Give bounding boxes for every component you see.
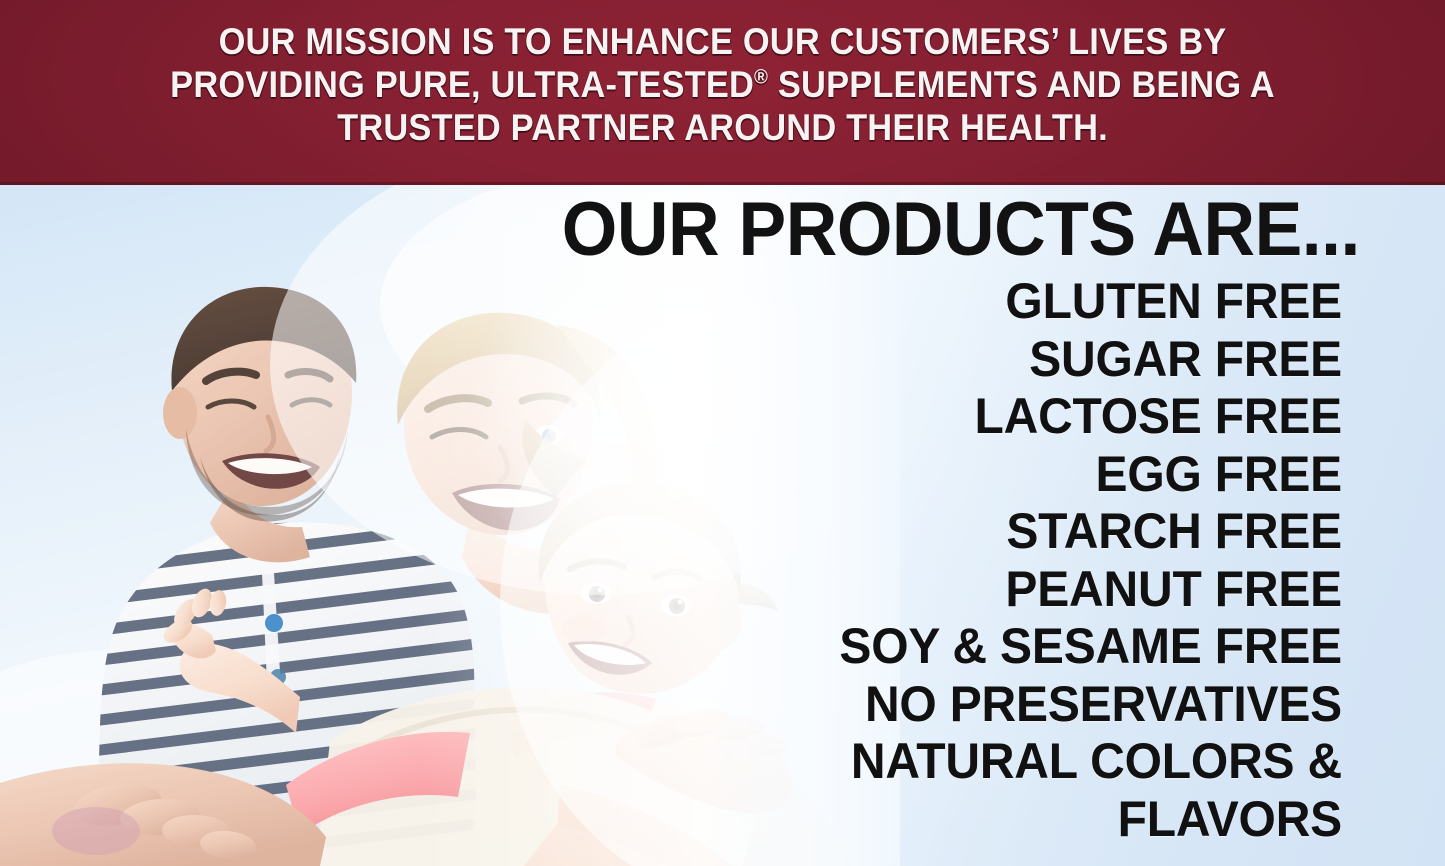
claim-item-starch-free: STARCH FREE	[545, 503, 1342, 561]
claim-item-egg-free: EGG FREE	[545, 446, 1342, 504]
claim-item-gluten-free: GLUTEN FREE	[545, 273, 1342, 331]
claim-item-peanut-free: PEANUT FREE	[545, 561, 1342, 619]
product-claims-block: OUR PRODUCTS ARE... GLUTEN FREE SUGAR FR…	[512, 193, 1342, 848]
mission-line-1: OUR MISSION IS TO ENHANCE OUR CUSTOMERS’…	[219, 21, 1227, 62]
promo-banner-image: OUR MISSION IS TO ENHANCE OUR CUSTOMERS’…	[0, 0, 1445, 866]
mission-statement-banner: OUR MISSION IS TO ENHANCE OUR CUSTOMERS’…	[0, 0, 1445, 185]
claim-item-sugar-free: SUGAR FREE	[545, 331, 1342, 389]
mission-line-2-suffix: SUPPLEMENTS AND BEING A	[768, 64, 1275, 105]
claim-item-soy-sesame-free: SOY & SESAME FREE	[545, 618, 1342, 676]
claim-item-lactose-free: LACTOSE FREE	[545, 388, 1342, 446]
mission-line-3: TRUSTED PARTNER AROUND THEIR HEALTH.	[337, 107, 1108, 148]
claims-heading: OUR PRODUCTS ARE...	[562, 193, 1342, 267]
hero-section: OUR PRODUCTS ARE... GLUTEN FREE SUGAR FR…	[0, 185, 1445, 866]
claim-item-natural-colors-flavors: NATURAL COLORS & FLAVORS	[545, 733, 1342, 848]
registered-trademark-icon: ®	[754, 67, 768, 89]
claim-item-no-preservatives: NO PRESERVATIVES	[545, 676, 1342, 734]
claims-list: GLUTEN FREE SUGAR FREE LACTOSE FREE EGG …	[512, 273, 1342, 848]
mission-statement-text: OUR MISSION IS TO ENHANCE OUR CUSTOMERS’…	[51, 20, 1395, 149]
mission-line-2-prefix: PROVIDING PURE, ULTRA-TESTED	[170, 64, 754, 105]
